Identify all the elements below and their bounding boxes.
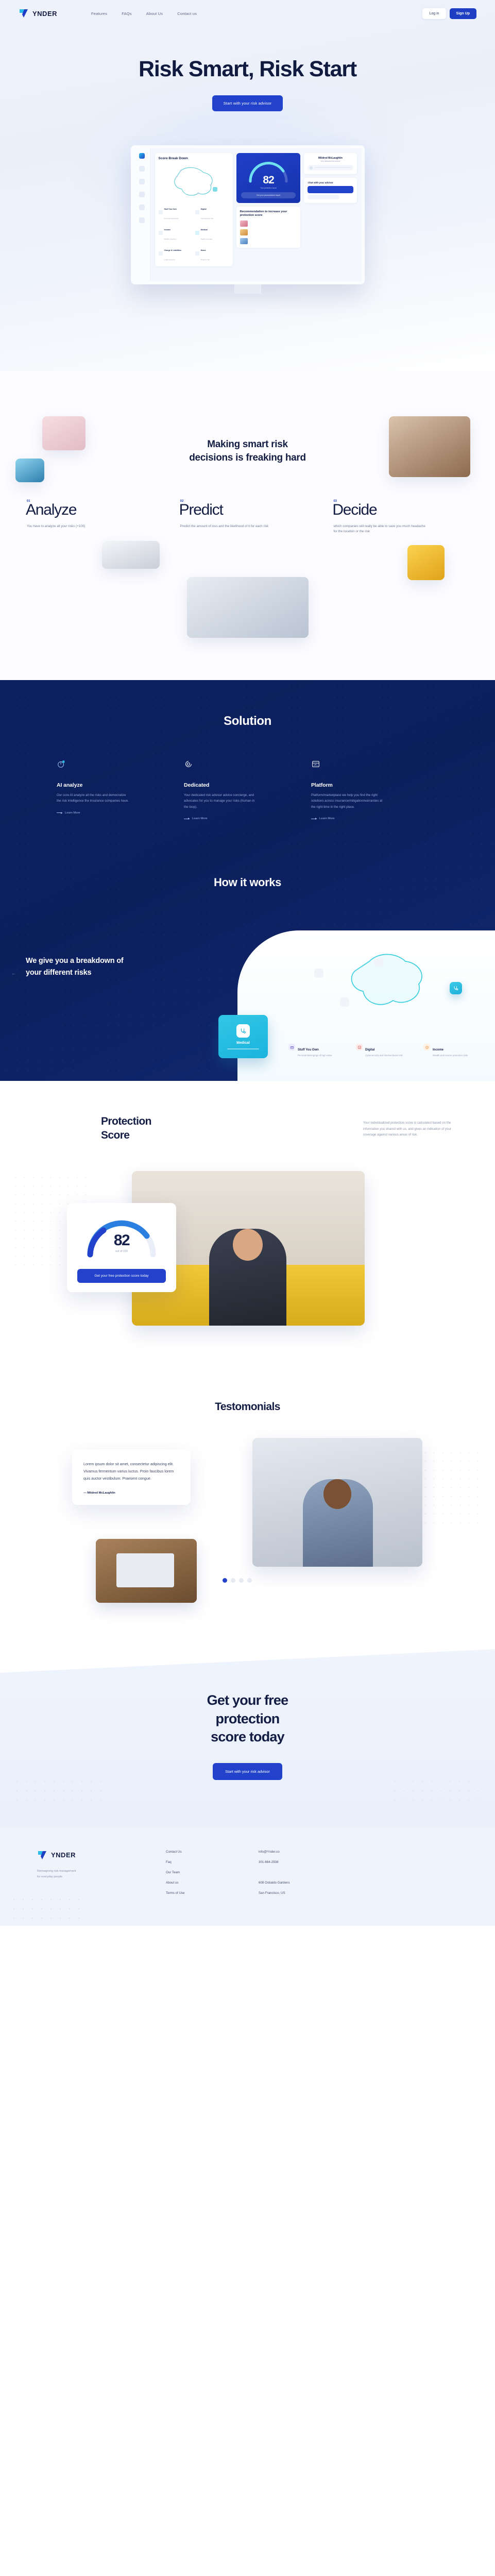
learn-more-label: Learn More xyxy=(65,811,80,815)
learn-more-link[interactable]: Learn More xyxy=(184,817,297,820)
ai-chart-icon xyxy=(57,759,66,769)
step-analyze: 01 Analyze You have to analyze all your … xyxy=(18,500,171,535)
photo-person-head xyxy=(323,1479,351,1509)
protection-body: 82 out of 100 Get your free protection s… xyxy=(0,1164,495,1334)
risk-category-list: Stuff You Own Personal Belongings of hig… xyxy=(288,1044,484,1058)
dashboard-main: Score Break Down xyxy=(150,148,362,281)
dashboard-mockup: Score Break Down xyxy=(0,145,495,297)
footer-brand: YNDER Reimagining risk management for ev… xyxy=(37,1850,166,1895)
decorative-photo xyxy=(389,416,470,477)
footer-inner: YNDER Reimagining risk management for ev… xyxy=(0,1850,495,1895)
footer-link-contact-us[interactable]: Contact Us xyxy=(166,1850,259,1854)
feature-description: Your dedicated risk advisor advice conci… xyxy=(184,792,256,810)
advisor-role: Your dedicated risk advisor xyxy=(308,160,353,162)
risk-card-progress xyxy=(227,1048,259,1050)
dashboard-column-score: 82 Your protection score Get your person… xyxy=(236,153,301,277)
dot-grid-pattern xyxy=(12,1777,105,1818)
photo-laptop xyxy=(116,1553,174,1587)
sidebar-item-risks[interactable] xyxy=(139,179,145,184)
box-icon xyxy=(159,210,163,214)
problem-heading-line2: decisions is freaking hard xyxy=(189,452,306,463)
decorative-photo xyxy=(102,541,160,569)
protection-title-line2: Score xyxy=(101,1129,129,1141)
step-description: which companies will really be able to s… xyxy=(333,524,426,535)
final-cta-section: Get your free protection score today Sta… xyxy=(0,1649,495,1827)
risk-description: Personal Belongings of high value xyxy=(298,1054,332,1058)
legend-sub: Wealth protection xyxy=(164,238,177,240)
legend-label: Stuff You Own xyxy=(164,208,177,210)
digital-icon xyxy=(195,210,199,214)
testimonial-photo xyxy=(252,1438,422,1567)
sidebar-item-advisor[interactable] xyxy=(139,205,145,210)
testimonials-title: Testomonials xyxy=(0,1401,495,1413)
arrow-right-icon xyxy=(311,819,317,819)
score-caption: Your protection score xyxy=(241,187,296,189)
sidebar-logo-icon xyxy=(139,153,145,159)
hero-cta-button[interactable]: Start with your risk advisor xyxy=(212,95,283,111)
final-cta-line2: protection xyxy=(216,1711,280,1726)
nav-link-features[interactable]: Features xyxy=(91,11,107,16)
nav-link-contact-us[interactable]: Contact us xyxy=(177,11,197,16)
nav-actions: Log in Sign Up xyxy=(422,8,476,19)
recommendation-thumbnail xyxy=(240,238,248,244)
chat-title: Chat with your advisor xyxy=(308,181,353,184)
income-icon xyxy=(423,1044,430,1050)
score-breakdown-title: Score Break Down xyxy=(159,157,229,160)
brand-name: YNDER xyxy=(51,1851,76,1859)
legend-sub: Health coverage xyxy=(201,238,213,240)
landing-page: YNDER Features FAQs About Us Contact us … xyxy=(0,0,495,1926)
footer-address-line2: San Francisco, US xyxy=(259,1891,290,1895)
solution-features: AI analyze Our core AI analyze all the r… xyxy=(0,728,495,820)
footer-links: Contact Us Faq Our Team About us Terms o… xyxy=(166,1850,259,1895)
step-title: Decide xyxy=(332,502,477,518)
feature-platform: Platform Platform/marketplace we help yo… xyxy=(311,759,438,820)
feature-description: Platform/marketplace we help you find th… xyxy=(311,792,383,810)
page-title: Risk Smart, Risk Start xyxy=(0,57,495,82)
list-item[interactable]: Stuff You Own Personal Belongings of hig… xyxy=(288,1044,349,1058)
platform-window-icon xyxy=(311,759,320,769)
carousel-dot[interactable] xyxy=(223,1578,227,1583)
final-cta-title: Get your free protection score today xyxy=(0,1691,495,1747)
testimonials-body: Lorem ipsum dolor sit amet, consectetur … xyxy=(0,1438,495,1608)
ynder-logo-icon xyxy=(19,8,29,19)
brand-logo[interactable]: YNDER xyxy=(19,8,57,19)
footer: YNDER Reimagining risk management for ev… xyxy=(0,1827,495,1926)
list-item[interactable]: IncomeWealth protection xyxy=(159,224,193,242)
risk-title: Stuff You Own xyxy=(298,1048,319,1052)
risk-title: Income xyxy=(433,1048,443,1052)
nav-link-about-us[interactable]: About Us xyxy=(146,11,163,16)
testimonial-author: — Mildred McLaughlin xyxy=(83,1492,179,1495)
solution-section: Solution AI analyze Our core AI analyze … xyxy=(0,680,495,1081)
risk-breakdown-block: ← We give you a breakdown of your differ… xyxy=(0,921,495,1081)
testimonial-card: Lorem ipsum dolor sit amet, consectetur … xyxy=(72,1449,191,1505)
dashboard-column-breakdown: Score Break Down xyxy=(155,153,233,277)
breakdown-heading: We give you a breakdown of your differen… xyxy=(26,955,129,978)
brand-name: YNDER xyxy=(32,10,57,18)
score-card: 82 Your protection score Get your person… xyxy=(236,153,301,203)
box-icon xyxy=(288,1044,295,1050)
advisor-message-input[interactable] xyxy=(308,165,353,171)
score-breakdown-card: Score Break Down xyxy=(155,153,233,266)
diagonal-divider xyxy=(0,1649,495,1673)
recommendations-card: Recommendation to increase your protecti… xyxy=(236,207,301,248)
final-cta-line1: Get your free xyxy=(207,1692,288,1708)
footer-link-terms-of-use[interactable]: Terms of Use xyxy=(166,1891,259,1895)
protection-copy: Your individualized protection score is … xyxy=(363,1120,464,1138)
decorative-photo xyxy=(407,545,445,580)
monitor-base xyxy=(212,294,283,297)
ynder-logo-icon xyxy=(37,1850,47,1860)
carousel-dots xyxy=(223,1578,252,1583)
recommendation-thumbnail xyxy=(240,229,248,235)
list-item[interactable]: HomeProperty risk xyxy=(195,244,229,263)
nav-links: Features FAQs About Us Contact us xyxy=(91,11,197,16)
decorative-photo xyxy=(187,577,309,638)
list-item[interactable] xyxy=(240,229,297,235)
feature-title: Platform xyxy=(311,782,424,788)
send-icon xyxy=(310,166,313,170)
decorative-photo xyxy=(42,416,86,450)
sidebar-item-dashboard[interactable] xyxy=(139,166,145,172)
list-item[interactable]: Charge & LiabilitiesLegal exposure xyxy=(159,244,193,263)
step-description: Predict the amount of loss and the likel… xyxy=(180,524,273,530)
feature-dedicated: Dedicated Your dedicated risk advisor ad… xyxy=(184,759,311,820)
testimonial-quote: Lorem ipsum dolor sit amet, consectetur … xyxy=(83,1461,179,1482)
legend-label: Income xyxy=(164,229,171,231)
home-icon xyxy=(195,251,199,256)
legend-sub: Personal belongings xyxy=(164,217,179,219)
risk-blob-chart xyxy=(159,162,229,200)
problem-steps: 01 Analyze You have to analyze all your … xyxy=(0,500,495,535)
footer-email[interactable]: info@Ynder.co xyxy=(259,1850,290,1854)
feature-description: Our core AI analyze all the risks and de… xyxy=(57,792,129,804)
list-item[interactable]: Digital Cybersecurity and internet-based… xyxy=(356,1044,416,1058)
brand-logo[interactable]: YNDER xyxy=(37,1850,166,1860)
list-item[interactable] xyxy=(240,221,297,227)
monitor-neck xyxy=(234,284,261,294)
step-title: Predict xyxy=(179,502,325,518)
income-icon xyxy=(340,997,349,1007)
legend-label: Charge & Liabilities xyxy=(164,249,182,251)
list-item[interactable]: DigitalCybersecurity risk xyxy=(195,203,229,222)
chat-bubble-outgoing xyxy=(308,186,353,193)
footer-phone[interactable]: 301-664-2938 xyxy=(259,1860,290,1864)
digital-icon xyxy=(374,957,383,967)
risk-legend: Stuff You OwnPersonal belongings Digital… xyxy=(159,203,229,263)
learn-more-label: Learn More xyxy=(192,817,208,820)
list-item[interactable] xyxy=(240,238,297,244)
protection-score-gauge: 82 out of 100 xyxy=(83,1214,160,1260)
chat-card: Chat with your advisor xyxy=(304,178,356,203)
stethoscope-icon[interactable] xyxy=(450,982,462,994)
learn-more-link[interactable]: Learn More xyxy=(311,817,424,820)
stethoscope-icon xyxy=(195,231,199,235)
get-score-button[interactable]: Get your free protection score today xyxy=(77,1269,166,1283)
digital-icon xyxy=(356,1044,363,1050)
problem-heading-line1: Making smart risk xyxy=(207,439,287,450)
liability-icon xyxy=(159,251,163,256)
feature-ai-analyze: AI analyze Our core AI analyze all the r… xyxy=(57,759,184,820)
legend-sub: Legal exposure xyxy=(164,259,175,261)
signup-button[interactable]: Sign Up xyxy=(450,8,476,19)
problem-section: Making smart risk decisions is freaking … xyxy=(0,371,495,680)
step-description: You have to analyze all your risks (+100… xyxy=(27,524,120,530)
step-predict: 02 Predict Predict the amount of loss an… xyxy=(171,500,325,535)
step-title: Analyze xyxy=(26,502,171,518)
decorative-photo xyxy=(15,459,44,482)
protection-score-value: 82 xyxy=(83,1232,160,1249)
protection-score-caption: out of 100 xyxy=(83,1250,160,1253)
protection-score-section: Protection Score Your individualized pro… xyxy=(0,1081,495,1380)
how-it-works-title: How it works xyxy=(0,876,495,889)
footer-link-faq[interactable]: Faq xyxy=(166,1860,259,1864)
solution-title: Solution xyxy=(0,714,495,728)
feature-title: AI analyze xyxy=(57,782,169,788)
legend-sub: Cybersecurity risk xyxy=(201,217,214,219)
box-icon xyxy=(314,969,323,978)
top-navigation: YNDER Features FAQs About Us Contact us … xyxy=(0,0,495,27)
advisor-name: Mildred McLaughlin xyxy=(308,157,353,160)
dashboard-column-advisor: Mildred McLaughlin Your dedicated risk a… xyxy=(304,153,356,277)
list-item[interactable]: Income Wealth and income protection risk… xyxy=(423,1044,484,1058)
footer-address-line1: 608 Osbaldo Gardens xyxy=(259,1881,290,1885)
final-cta-line3: score today xyxy=(211,1729,284,1744)
stethoscope-icon xyxy=(236,1024,250,1038)
list-item[interactable]: Stuff You OwnPersonal belongings xyxy=(159,203,193,222)
laptop-photo xyxy=(96,1539,197,1603)
nav-link-faqs[interactable]: FAQs xyxy=(122,11,132,16)
chat-bubble-incoming xyxy=(308,195,339,199)
dedicated-advisor-icon xyxy=(184,759,193,769)
monitor-screen: Score Break Down xyxy=(131,145,365,284)
footer-tagline-line1: Reimagining risk management xyxy=(37,1870,76,1873)
carousel-dot[interactable] xyxy=(247,1578,252,1583)
carousel-dot[interactable] xyxy=(231,1578,235,1583)
score-report-button[interactable]: Get your personalized report xyxy=(241,192,296,198)
testimonials-section: Testomonials Lorem ipsum dolor sit amet,… xyxy=(0,1380,495,1649)
risk-blob-graphic xyxy=(339,946,437,1015)
legend-label: Medical xyxy=(201,229,208,231)
dashboard-sidebar xyxy=(134,148,150,281)
dot-grid-pattern xyxy=(9,1895,81,1919)
learn-more-label: Learn More xyxy=(319,817,335,820)
dot-grid-pattern xyxy=(421,1448,483,1526)
footer-contact: info@Ynder.co 301-664-2938 608 Osbaldo G… xyxy=(259,1850,290,1895)
photo-person-head xyxy=(233,1229,263,1261)
legend-sub: Property risk xyxy=(201,259,210,261)
carousel-dot[interactable] xyxy=(239,1578,244,1583)
footer-tagline: Reimagining risk management for everyday… xyxy=(37,1869,104,1880)
footer-link-our-team[interactable]: Our Team xyxy=(166,1871,259,1874)
list-item[interactable]: MedicalHealth coverage xyxy=(195,224,229,242)
legend-label: Home xyxy=(201,249,206,251)
login-button[interactable]: Log in xyxy=(422,8,446,19)
advisor-card: Mildred McLaughlin Your dedicated risk a… xyxy=(304,153,356,174)
learn-more-link[interactable]: Learn More xyxy=(57,811,169,815)
monitor: Score Break Down xyxy=(131,145,365,297)
arrow-left-icon: ← xyxy=(11,971,16,976)
risk-card-medical[interactable]: Medical xyxy=(218,1015,268,1058)
score-gauge xyxy=(246,159,291,181)
recommendations-title: Recommendation to increase your protecti… xyxy=(240,210,297,218)
step-decide: 03 Decide which companies will really be… xyxy=(324,500,477,535)
footer-link-about-us[interactable]: About us xyxy=(166,1881,259,1885)
arrow-right-icon xyxy=(184,819,190,819)
feature-title: Dedicated xyxy=(184,782,297,788)
final-cta-button[interactable]: Start with your risk advisor xyxy=(213,1763,282,1780)
recommendation-thumbnail xyxy=(240,221,248,227)
hero-section: YNDER Features FAQs About Us Contact us … xyxy=(0,0,495,371)
footer-tagline-line2: for everyday people xyxy=(37,1875,62,1878)
risk-card-label: Medical xyxy=(236,1041,250,1045)
sidebar-item-settings[interactable] xyxy=(139,217,145,223)
risk-description: Cybersecurity and internet-based risk xyxy=(365,1054,403,1058)
risk-description: Wealth and income protection risks xyxy=(433,1054,468,1058)
income-icon xyxy=(159,231,163,235)
risk-title: Digital xyxy=(365,1048,374,1052)
legend-label: Digital xyxy=(201,208,207,210)
arrow-right-icon xyxy=(57,812,62,813)
protection-score-card: 82 out of 100 Get your free protection s… xyxy=(67,1203,176,1292)
protection-title-line1: Protection xyxy=(101,1115,151,1127)
dot-grid-pattern xyxy=(390,1777,483,1818)
sidebar-item-reports[interactable] xyxy=(139,192,145,197)
